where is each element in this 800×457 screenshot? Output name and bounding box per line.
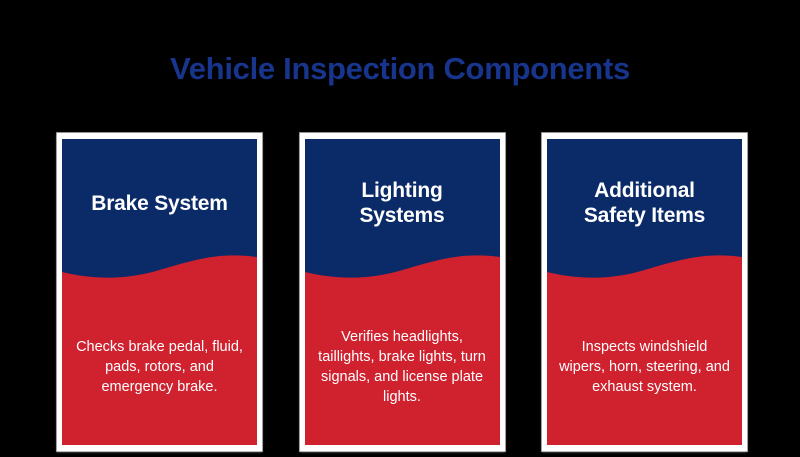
card-brake-system[interactable]: Brake System Checks brake pedal, fluid, … <box>57 133 262 451</box>
card-body: Verifies headlights, taillights, brake l… <box>305 289 500 445</box>
page-title: Vehicle Inspection Components <box>0 50 800 88</box>
cards-row: Brake System Checks brake pedal, fluid, … <box>57 133 747 451</box>
infographic-canvas: Vehicle Inspection Components Brake Syst… <box>0 0 800 457</box>
card-lighting-systems[interactable]: Lighting Systems Verifies headlights, ta… <box>300 133 505 451</box>
card-heading: Additional Safety Items <box>547 139 742 267</box>
card-inner: Additional Safety Items Inspects windshi… <box>547 139 742 445</box>
card-body-text: Checks brake pedal, fluid, pads, rotors,… <box>74 337 245 397</box>
card-additional-safety-items[interactable]: Additional Safety Items Inspects windshi… <box>542 133 747 451</box>
card-body-text: Inspects windshield wipers, horn, steeri… <box>559 337 730 397</box>
card-heading: Brake System <box>62 139 257 267</box>
card-heading: Lighting Systems <box>305 139 500 267</box>
card-inner: Lighting Systems Verifies headlights, ta… <box>305 139 500 445</box>
card-inner: Brake System Checks brake pedal, fluid, … <box>62 139 257 445</box>
card-body: Inspects windshield wipers, horn, steeri… <box>547 289 742 445</box>
card-body: Checks brake pedal, fluid, pads, rotors,… <box>62 289 257 445</box>
card-body-text: Verifies headlights, taillights, brake l… <box>317 327 488 407</box>
